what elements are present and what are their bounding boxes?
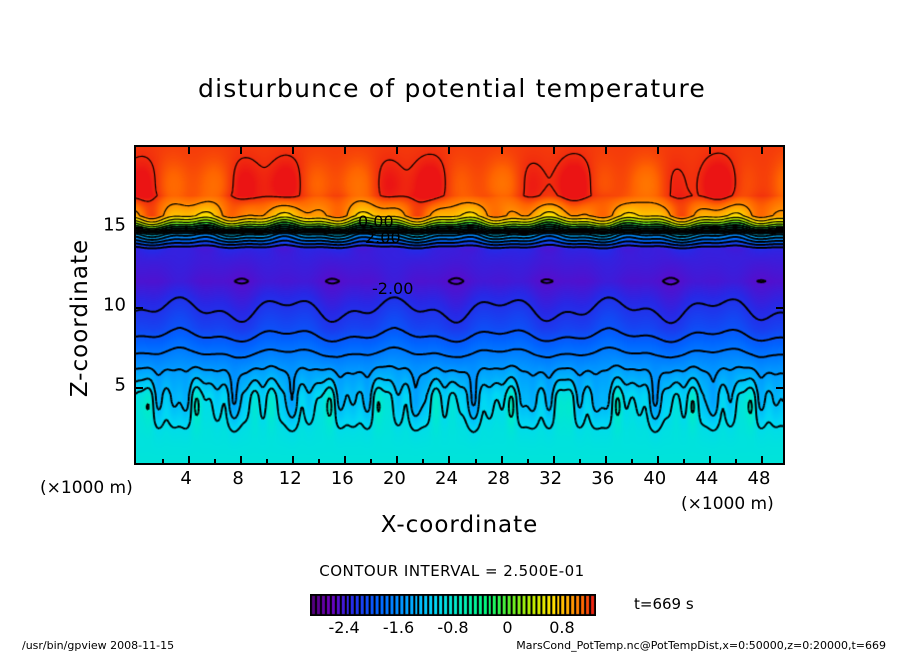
page-title: disturbunce of potential temperature: [0, 74, 904, 103]
y-tick-15: [136, 227, 143, 229]
figure-canvas: disturbunce of potential temperature 481…: [0, 0, 904, 654]
x-tick-top-8: [240, 147, 242, 154]
colorbar-tick-label-1: -1.6: [383, 618, 414, 637]
y-tick-label-5: 5: [92, 375, 126, 396]
x-tick-top-20: [396, 147, 398, 154]
x-tick-label-44: 44: [695, 468, 718, 489]
x-tick-24: [448, 456, 450, 463]
y-axis-label: Z-coordinate: [67, 208, 93, 428]
x-tick-20: [396, 456, 398, 463]
y-tick-right-15: [776, 227, 783, 229]
x-tick-label-12: 12: [279, 468, 302, 489]
x-tick-label-16: 16: [331, 468, 354, 489]
colorbar-tick-label-4: 0.8: [549, 618, 574, 637]
x-tick-top-40: [657, 147, 659, 154]
x-minor-tick: [735, 459, 737, 463]
x-tick-16: [344, 456, 346, 463]
x-tick-label-24: 24: [435, 468, 458, 489]
x-tick-top-16: [344, 147, 346, 154]
x-tick-top-44: [709, 147, 711, 154]
x-minor-tick: [683, 459, 685, 463]
x-tick-top-12: [292, 147, 294, 154]
x-minor-tick: [631, 459, 633, 463]
colorbar-tick-label-0: -2.4: [328, 618, 359, 637]
x-minor-tick: [527, 459, 529, 463]
contour-label-1: 2.00: [365, 228, 401, 247]
x-tick-top-28: [501, 147, 503, 154]
x-minor-tick: [318, 459, 320, 463]
x-tick-top-24: [448, 147, 450, 154]
x-tick-28: [501, 456, 503, 463]
x-minor-tick: [266, 459, 268, 463]
x-tick-top-36: [605, 147, 607, 154]
temperature-field-canvas: [136, 147, 783, 463]
colorbar: [310, 594, 596, 616]
x-tick-12: [292, 456, 294, 463]
x-axis-unit-left: (×1000 m): [40, 478, 133, 498]
x-tick-label-48: 48: [748, 468, 771, 489]
x-tick-44: [709, 456, 711, 463]
x-minor-tick: [475, 459, 477, 463]
x-tick-top-32: [553, 147, 555, 154]
x-minor-tick: [370, 459, 372, 463]
colorbar-tick-label-2: -0.8: [437, 618, 468, 637]
x-tick-32: [553, 456, 555, 463]
x-tick-8: [240, 456, 242, 463]
x-axis-unit-right: (×1000 m): [681, 494, 774, 514]
x-tick-36: [605, 456, 607, 463]
y-tick-right-10: [776, 307, 783, 309]
x-tick-label-4: 4: [180, 468, 191, 489]
x-tick-top-4: [188, 147, 190, 154]
x-minor-tick: [579, 459, 581, 463]
footer-command: /usr/bin/gpview 2008-11-15: [22, 639, 174, 652]
contour-plot-area: [134, 145, 785, 465]
x-axis-label: X-coordinate: [134, 512, 785, 538]
x-tick-top-48: [761, 147, 763, 154]
contour-interval-label: CONTOUR INTERVAL = 2.500E-01: [0, 562, 904, 580]
x-minor-tick: [422, 459, 424, 463]
time-label: t=669 s: [634, 595, 694, 613]
x-tick-label-32: 32: [539, 468, 562, 489]
x-minor-tick: [214, 459, 216, 463]
y-tick-right-5: [776, 387, 783, 389]
x-tick-label-8: 8: [232, 468, 243, 489]
y-tick-5: [136, 387, 143, 389]
x-tick-40: [657, 456, 659, 463]
y-tick-label-15: 15: [92, 215, 126, 236]
x-tick-label-20: 20: [383, 468, 406, 489]
x-tick-48: [761, 456, 763, 463]
y-tick-label-10: 10: [92, 295, 126, 316]
contour-label-2: -2.00: [372, 279, 413, 298]
footer-source: MarsCond_PotTemp.nc@PotTempDist,x=0:5000…: [516, 639, 886, 652]
x-minor-tick: [162, 459, 164, 463]
x-tick-label-36: 36: [591, 468, 614, 489]
x-tick-label-28: 28: [487, 468, 510, 489]
y-tick-10: [136, 307, 143, 309]
colorbar-tick-label-3: 0: [502, 618, 512, 637]
colorbar-canvas: [311, 595, 595, 615]
x-tick-4: [188, 456, 190, 463]
x-tick-label-40: 40: [643, 468, 666, 489]
